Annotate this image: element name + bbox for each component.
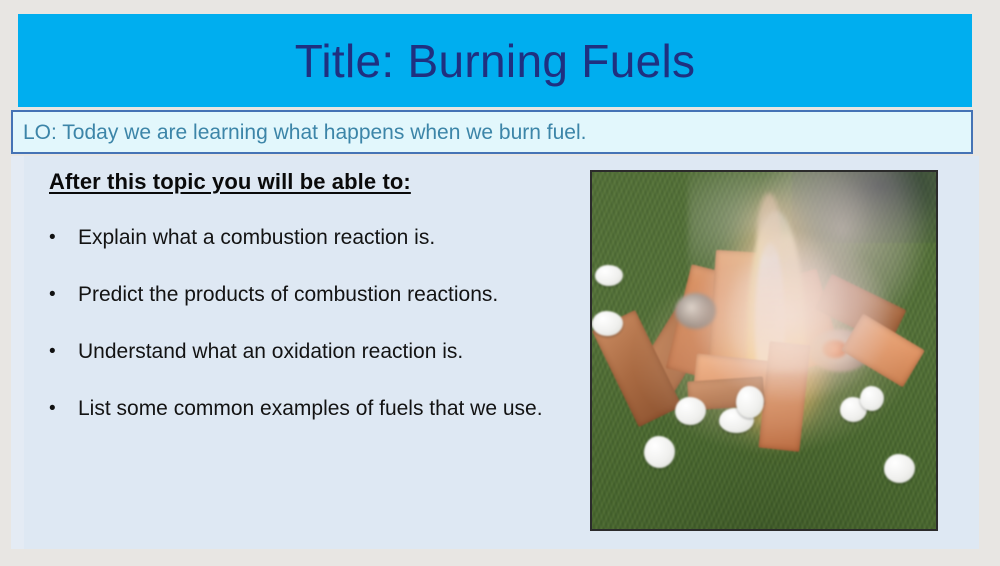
body-left-edge-strip — [11, 156, 24, 549]
bullet-icon: • — [38, 278, 78, 311]
bonfire-photo-canvas — [592, 172, 936, 529]
bullet-icon: • — [38, 221, 78, 254]
list-item: • List some common examples of fuels tha… — [38, 392, 578, 425]
objectives-column: After this topic you will be able to: • … — [38, 170, 578, 422]
learning-objective-bar: LO: Today we are learning what happens w… — [11, 110, 973, 154]
bonfire-photo — [590, 170, 938, 531]
page-title: Title: Burning Fuels — [295, 38, 696, 84]
objective-text: List some common examples of fuels that … — [78, 392, 558, 425]
learning-objective-text: LO: Today we are learning what happens w… — [13, 122, 586, 143]
objective-text: Explain what a combustion reaction is. — [78, 221, 558, 254]
objective-text: Understand what an oxidation reaction is… — [78, 335, 558, 368]
bullet-icon: • — [38, 335, 78, 368]
list-item: • Understand what an oxidation reaction … — [38, 335, 578, 368]
bullet-icon: • — [38, 392, 78, 425]
crumpled-paper — [884, 454, 915, 483]
objectives-list: • Explain what a combustion reaction is.… — [38, 221, 578, 425]
topic-heading: After this topic you will be able to: — [49, 170, 411, 194]
objective-text: Predict the products of combustion react… — [78, 278, 558, 311]
crumpled-paper — [644, 436, 675, 468]
list-item: • Predict the products of combustion rea… — [38, 278, 578, 311]
list-item: • Explain what a combustion reaction is. — [38, 221, 578, 254]
crumpled-paper — [675, 397, 706, 426]
slide-canvas: Title: Burning Fuels LO: Today we are le… — [0, 0, 1000, 566]
slide-title-bar: Title: Burning Fuels — [18, 14, 972, 107]
